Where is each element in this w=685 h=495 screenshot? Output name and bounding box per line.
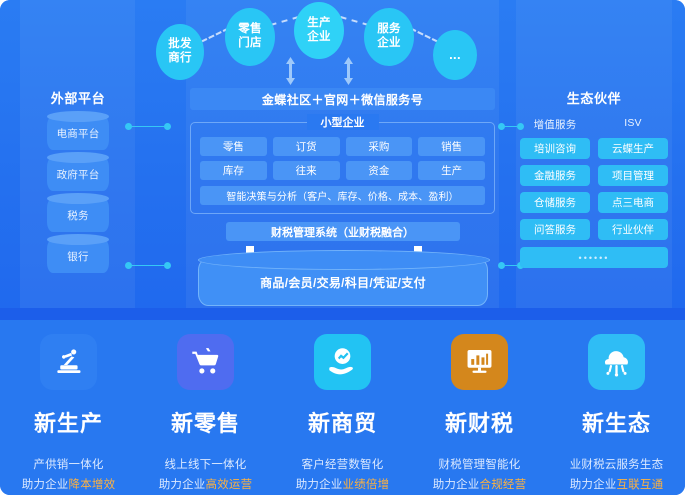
card-line-2-highlight: 合规经营 bbox=[480, 479, 527, 491]
shopping-cart-icon bbox=[189, 345, 222, 378]
card-title: 新生产 bbox=[34, 406, 103, 438]
sme-tag: 小型企业 bbox=[307, 114, 379, 130]
card-description: 产供销一体化 助力企业降本增效 bbox=[22, 455, 116, 495]
node-line-1: ... bbox=[449, 47, 461, 62]
card-line-1: 业财税云服务生态 bbox=[570, 455, 664, 475]
cloud-network-icon bbox=[600, 345, 633, 378]
data-store-label: 商品/会员/交易/科目/凭证/支付 bbox=[260, 274, 426, 291]
chip-qa[interactable]: 问答服务 bbox=[520, 219, 590, 240]
chip-dian3-ecommerce[interactable]: 点三电商 bbox=[598, 192, 668, 213]
tile-background bbox=[451, 334, 508, 390]
platform-label: 电商平台 bbox=[57, 126, 100, 141]
node-line-1: 批发 bbox=[168, 38, 192, 52]
pillars-section: 新生产 产供销一体化 助力企业降本增效 新零售 线上线下一体化 助力企业高效运营 bbox=[0, 320, 685, 495]
connector-line bbox=[132, 265, 164, 267]
card-line-1: 线上线下一体化 bbox=[159, 455, 253, 475]
smart-analytics-bar[interactable]: 智能决策与分析（客户、库存、价格、成本、盈利） bbox=[200, 186, 485, 205]
card-line-2-prefix: 助力企业 bbox=[570, 479, 617, 491]
platform-label: 政府平台 bbox=[57, 167, 100, 182]
card-title: 新商贸 bbox=[308, 406, 377, 438]
connector-dot bbox=[164, 262, 171, 269]
sme-box: 小型企业 零售 订货 采购 销售 库存 往来 资金 生产 智能决策与分析（客户、… bbox=[190, 122, 495, 214]
connector-dot bbox=[498, 262, 505, 269]
connector-line bbox=[505, 265, 517, 267]
panel-title: 外部平台 bbox=[24, 88, 132, 107]
external-platforms-panel: 外部平台 电商平台 政府平台 税务 银行 bbox=[24, 88, 132, 286]
connector-dot bbox=[498, 123, 505, 130]
ecosystem-partners-panel: 生态伙伴 增值服务 ISV 培训咨询 金融服务 仓储服务 问答服务 云蝶生产 项… bbox=[520, 88, 668, 288]
node-wholesale[interactable]: 批发 商行 bbox=[156, 24, 204, 80]
node-link-4 bbox=[410, 28, 438, 43]
platform-bank[interactable]: 银行 bbox=[47, 239, 109, 273]
node-line-1: 零售 bbox=[238, 23, 262, 37]
module-ordering[interactable]: 订货 bbox=[273, 137, 340, 156]
column-head-value-added: 增值服务 bbox=[520, 117, 590, 132]
module-transactions[interactable]: 往来 bbox=[273, 161, 340, 180]
card-title: 新生态 bbox=[582, 406, 651, 438]
chip-yundie-production[interactable]: 云蝶生产 bbox=[598, 138, 668, 159]
tile-background bbox=[314, 334, 371, 390]
node-line-2: 企业 bbox=[307, 31, 331, 45]
connector-dot bbox=[164, 123, 171, 130]
chip-industry-partners[interactable]: 行业伙伴 bbox=[598, 219, 668, 240]
chip-column-value-added: 培训咨询 金融服务 仓储服务 问答服务 bbox=[520, 138, 590, 240]
chip-project-management[interactable]: 项目管理 bbox=[598, 165, 668, 186]
card-line-2-highlight: 降本增效 bbox=[69, 479, 116, 491]
card-line-2: 助力企业高效运营 bbox=[159, 475, 253, 495]
card-line-2-prefix: 助力企业 bbox=[22, 479, 69, 491]
node-line-1: 服务 bbox=[377, 23, 401, 37]
module-funds[interactable]: 资金 bbox=[346, 161, 413, 180]
chip-finance[interactable]: 金融服务 bbox=[520, 165, 590, 186]
pillar-card-new-retail[interactable]: 新零售 线上线下一体化 助力企业高效运营 bbox=[137, 320, 274, 495]
business-type-nodes: 批发 商行 零售 门店 生产 企业 服务 企业 ... bbox=[0, 0, 685, 86]
pillar-card-new-ecosystem[interactable]: 新生态 业财税云服务生态 助力企业互联互通 bbox=[548, 320, 685, 495]
chip-column-isv: 云蝶生产 项目管理 点三电商 行业伙伴 bbox=[598, 138, 668, 240]
vertical-double-arrow-icon bbox=[285, 57, 296, 85]
card-line-2-prefix: 助力企业 bbox=[159, 479, 206, 491]
module-sales[interactable]: 销售 bbox=[418, 137, 485, 156]
card-description: 财税管理智能化 助力企业合规经营 bbox=[433, 455, 527, 495]
tile-background bbox=[177, 334, 234, 390]
card-line-2: 助力企业互联互通 bbox=[570, 475, 664, 495]
platform-label: 税务 bbox=[67, 208, 88, 223]
card-line-1: 产供销一体化 bbox=[22, 455, 116, 475]
tile-background bbox=[40, 334, 97, 390]
card-line-2-prefix: 助力企业 bbox=[296, 479, 343, 491]
platform-ecommerce[interactable]: 电商平台 bbox=[47, 116, 109, 150]
card-line-2: 助力企业降本增效 bbox=[22, 475, 116, 495]
card-description: 线上线下一体化 助力企业高效运营 bbox=[159, 455, 253, 495]
node-more[interactable]: ... bbox=[433, 30, 477, 80]
panel-title: 生态伙伴 bbox=[520, 88, 668, 107]
partner-chip-columns: 培训咨询 金融服务 仓储服务 问答服务 云蝶生产 项目管理 点三电商 行业伙伴 bbox=[520, 138, 668, 240]
card-line-2-highlight: 高效运营 bbox=[206, 479, 253, 491]
architecture-infographic: 批发 商行 零售 门店 生产 企业 服务 企业 ... bbox=[0, 0, 685, 495]
module-inventory[interactable]: 库存 bbox=[200, 161, 267, 180]
module-production[interactable]: 生产 bbox=[418, 161, 485, 180]
node-service[interactable]: 服务 企业 bbox=[364, 8, 414, 66]
connector-line bbox=[505, 126, 517, 128]
column-head-isv: ISV bbox=[598, 117, 668, 132]
card-line-2: 助力企业合规经营 bbox=[433, 475, 527, 495]
node-retail-store[interactable]: 零售 门店 bbox=[225, 8, 275, 66]
card-line-1: 财税管理智能化 bbox=[433, 455, 527, 475]
card-title: 新财税 bbox=[445, 406, 514, 438]
module-purchasing[interactable]: 采购 bbox=[346, 137, 413, 156]
partner-column-headers: 增值服务 ISV bbox=[520, 117, 668, 132]
card-line-1: 客户经营数智化 bbox=[296, 455, 390, 475]
trend-hand-icon bbox=[326, 345, 359, 378]
chip-training[interactable]: 培训咨询 bbox=[520, 138, 590, 159]
connector-line bbox=[132, 126, 164, 128]
tile-background bbox=[588, 334, 645, 390]
chip-warehouse[interactable]: 仓储服务 bbox=[520, 192, 590, 213]
module-grid: 零售 订货 采购 销售 库存 往来 资金 生产 bbox=[200, 137, 485, 180]
partners-more-bar[interactable]: •••••• bbox=[520, 247, 668, 268]
platform-government[interactable]: 政府平台 bbox=[47, 157, 109, 191]
platform-tax[interactable]: 税务 bbox=[47, 198, 109, 232]
card-line-2: 助力企业业绩倍增 bbox=[296, 475, 390, 495]
vertical-double-arrow-icon bbox=[343, 57, 354, 85]
node-link-3 bbox=[340, 16, 368, 26]
card-description: 客户经营数智化 助力企业业绩倍增 bbox=[296, 455, 390, 495]
robot-arm-icon bbox=[52, 345, 85, 378]
architecture-section: 批发 商行 零售 门店 生产 企业 服务 企业 ... bbox=[0, 0, 685, 308]
node-manufacturing[interactable]: 生产 企业 bbox=[294, 2, 344, 59]
node-line-1: 生产 bbox=[307, 17, 331, 31]
node-line-2: 商行 bbox=[168, 52, 192, 66]
section-divider bbox=[0, 308, 685, 320]
bar-chart-monitor-icon bbox=[463, 345, 496, 378]
pillar-card-new-tax[interactable]: 新财税 财税管理智能化 助力企业合规经营 bbox=[411, 320, 548, 495]
card-line-2-prefix: 助力企业 bbox=[433, 479, 480, 491]
pillar-card-new-production[interactable]: 新生产 产供销一体化 助力企业降本增效 bbox=[0, 320, 137, 495]
card-title: 新零售 bbox=[171, 406, 240, 438]
core-platform-panel: 金蝶社区＋官网＋微信服务号 小型企业 零售 订货 采购 销售 库存 往来 资金 … bbox=[190, 88, 495, 288]
community-banner[interactable]: 金蝶社区＋官网＋微信服务号 bbox=[190, 88, 495, 110]
data-store-cylinder[interactable]: 商品/会员/交易/科目/凭证/支付 bbox=[198, 258, 488, 306]
node-line-2: 企业 bbox=[377, 37, 401, 51]
card-line-2-highlight: 互联互通 bbox=[617, 479, 664, 491]
node-line-2: 门店 bbox=[238, 37, 262, 51]
module-retail[interactable]: 零售 bbox=[200, 137, 267, 156]
tax-management-bar[interactable]: 财税管理系统（业财税融合） bbox=[226, 222, 460, 241]
card-line-2-highlight: 业绩倍增 bbox=[343, 479, 390, 491]
platform-label: 银行 bbox=[67, 249, 88, 264]
pillar-card-new-commerce[interactable]: 新商贸 客户经营数智化 助力企业业绩倍增 bbox=[274, 320, 411, 495]
card-description: 业财税云服务生态 助力企业互联互通 bbox=[570, 455, 664, 495]
